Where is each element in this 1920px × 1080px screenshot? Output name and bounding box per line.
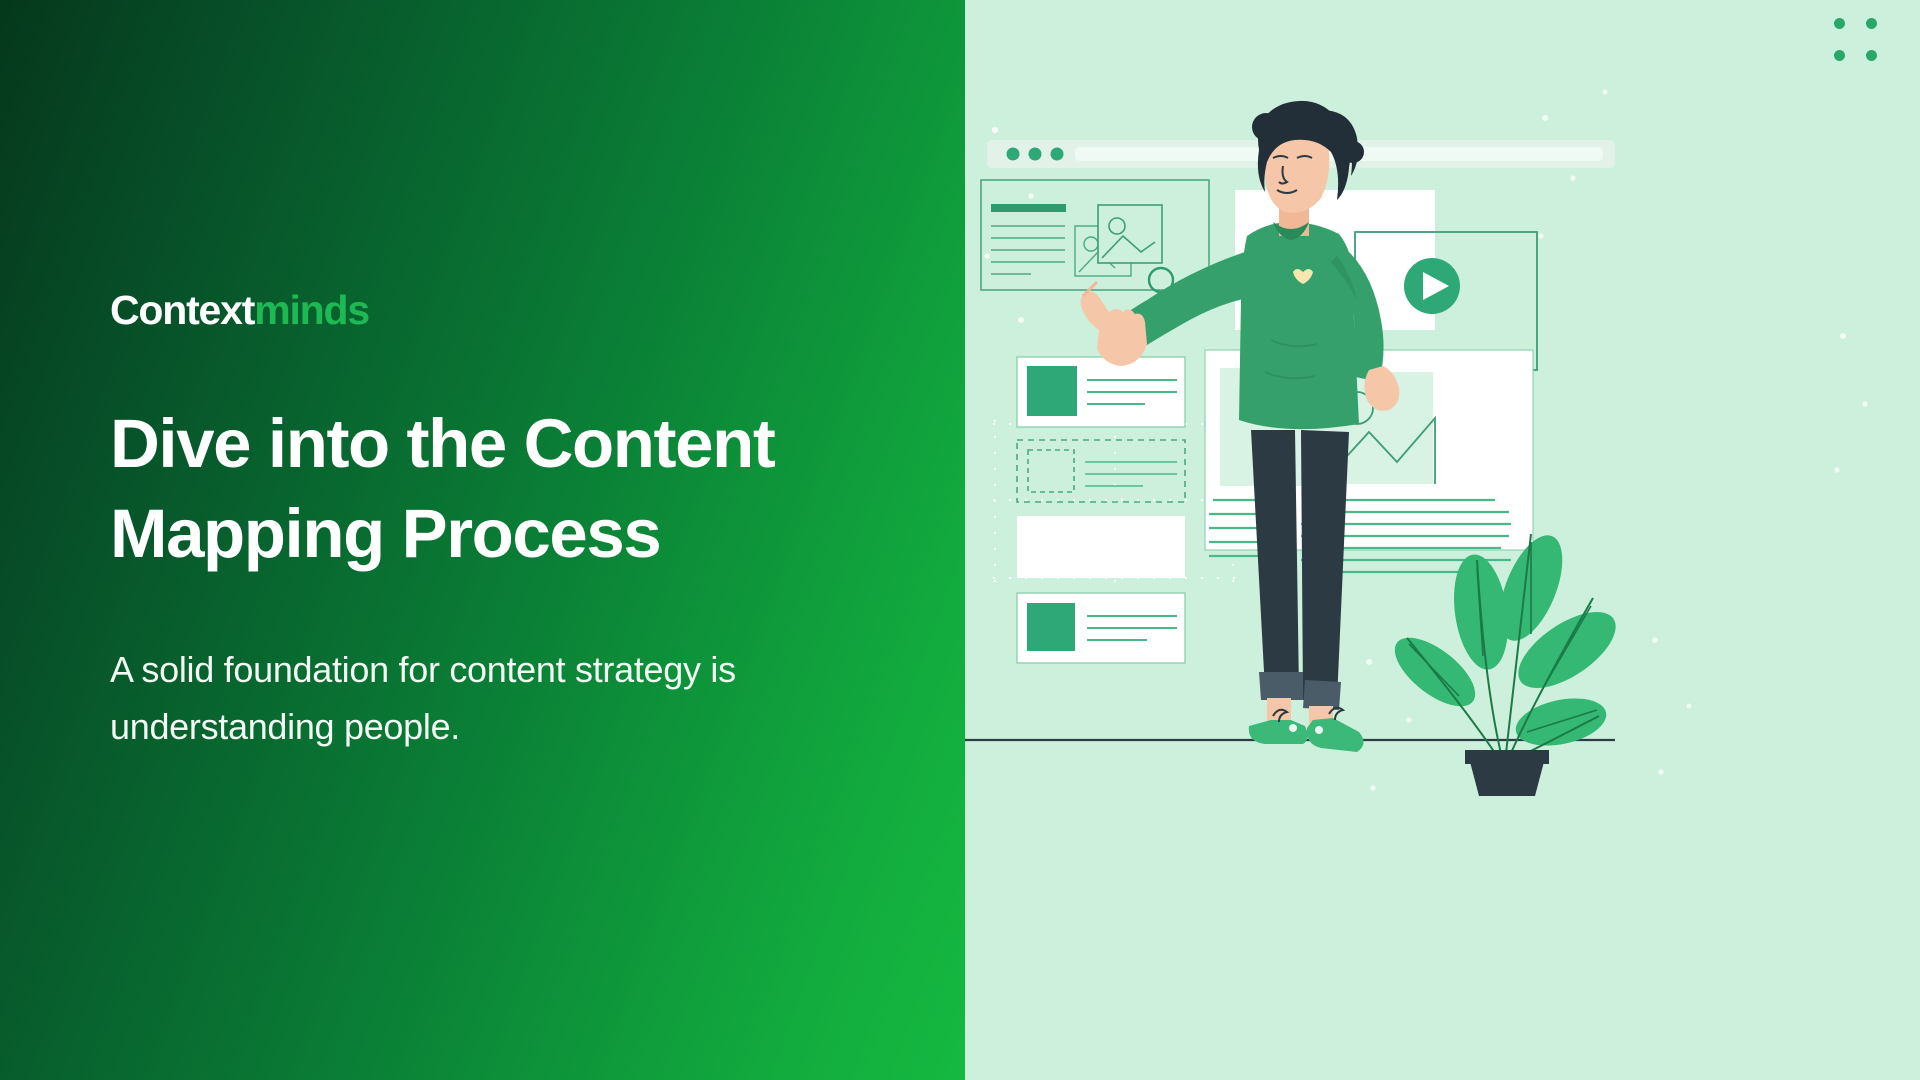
thumbnail-card-top [1017, 357, 1185, 427]
person-sweater [1239, 222, 1359, 429]
person-pointing-hand [1081, 282, 1147, 366]
logo-text-primary: Context [110, 287, 254, 333]
plant-pot-rim [1465, 750, 1549, 764]
browser-dot-icon [1051, 148, 1064, 161]
thumbnail-swatch [1027, 366, 1077, 416]
person-hair-bun [1342, 141, 1364, 163]
browser-dot-icon [1029, 148, 1042, 161]
potted-plant [1384, 527, 1628, 796]
person-leg [1301, 430, 1349, 700]
left-text-panel: Contextminds Dive into the Content Mappi… [0, 0, 965, 1080]
logo-text-secondary: minds [254, 287, 369, 333]
left-content-block: Contextminds Dive into the Content Mappi… [110, 290, 910, 756]
hero-headline: Dive into the Content Mapping Process [110, 399, 830, 580]
person-shoe [1307, 718, 1364, 752]
thumbnail-card-bottom [1017, 593, 1185, 663]
card-text-lines [991, 226, 1065, 274]
person-shoe [1249, 720, 1308, 744]
right-illustration-panel [965, 0, 1920, 1080]
person-hair-bun [1252, 113, 1280, 141]
blank-card [1017, 516, 1185, 578]
image-placeholder-icon [1098, 205, 1162, 263]
brand-logo[interactable]: Contextminds [110, 290, 910, 331]
content-card-with-images [981, 180, 1209, 292]
dashed-placeholder-card [1017, 440, 1185, 502]
promotional-banner: Contextminds Dive into the Content Mappi… [0, 0, 1920, 1080]
content-mapping-illustration [965, 0, 1920, 1080]
card-text-lines [1085, 462, 1177, 486]
pant-cuff [1303, 680, 1341, 710]
pant-cuff [1259, 672, 1303, 700]
browser-dot-icon [1007, 148, 1020, 161]
thumbnail-swatch [1027, 603, 1075, 651]
hero-subheadline: A solid foundation for content strategy … [110, 642, 810, 756]
person-leg [1251, 430, 1299, 690]
